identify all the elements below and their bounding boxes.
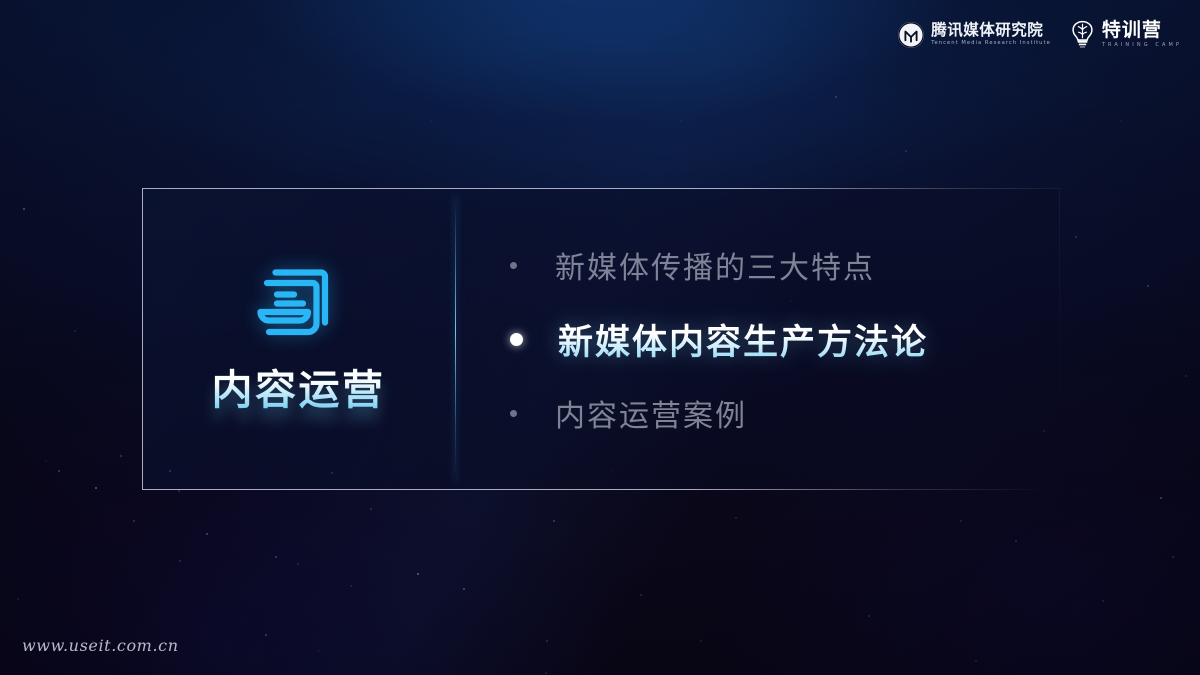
tencent-media-research-institute-logo: 腾讯媒体研究院 Tencent Media Research Institute [898, 22, 1051, 48]
agenda-item-2-label: 新媒体内容生产方法论 [558, 314, 928, 365]
training-camp-name-en: TRAINING CAMP [1102, 43, 1182, 48]
brand-logo-bar: 腾讯媒体研究院 Tencent Media Research Institute… [898, 20, 1182, 49]
training-camp-logo: 特训营 TRAINING CAMP [1069, 20, 1182, 49]
agenda-item-2-active[interactable]: 新媒体内容生产方法论 [510, 305, 1060, 373]
agenda-item-1-label: 新媒体传播的三大特点 [555, 243, 875, 287]
training-camp-name-cn: 特训营 [1102, 21, 1182, 40]
agenda-item-1[interactable]: 新媒体传播的三大特点 [510, 231, 1060, 299]
presentation-slide: 腾讯媒体研究院 Tencent Media Research Institute… [0, 0, 1200, 675]
tencent-m-monogram-icon [898, 22, 924, 48]
agenda-item-3-label: 内容运营案例 [555, 391, 747, 435]
tencent-logo-text: 腾讯媒体研究院 Tencent Media Research Institute [931, 23, 1051, 47]
training-camp-logo-text: 特训营 TRAINING CAMP [1102, 21, 1182, 48]
scroll-document-icon [247, 250, 351, 354]
bullet-icon [510, 410, 517, 417]
agenda-item-3[interactable]: 内容运营案例 [510, 379, 1060, 447]
topic-title: 内容运营 [212, 368, 386, 413]
agenda-card: 内容运营 内容运营 新媒体传播的三大特点 新媒体内容生产方法论 内容运营案例 [142, 188, 1060, 490]
tencent-logo-name-cn: 腾讯媒体研究院 [931, 23, 1051, 39]
brain-head-emblem-icon [1069, 20, 1096, 49]
site-watermark: www.useit.com.cn [22, 636, 179, 655]
tencent-logo-name-en: Tencent Media Research Institute [931, 41, 1051, 46]
topic-panel: 内容运营 内容运营 [142, 188, 455, 490]
bullet-active-icon [510, 333, 523, 346]
bullet-icon [510, 262, 517, 269]
agenda-list: 新媒体传播的三大特点 新媒体内容生产方法论 内容运营案例 [455, 188, 1060, 490]
